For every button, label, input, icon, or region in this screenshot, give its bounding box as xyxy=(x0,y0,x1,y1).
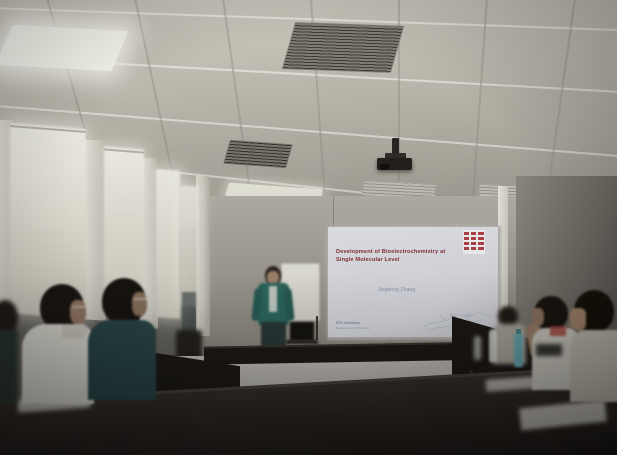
ceiling-light-panel-1 xyxy=(0,25,128,71)
water-bottle-teal xyxy=(514,333,523,367)
screen-hanger-left xyxy=(333,196,334,230)
water-bottle-teal-cap xyxy=(516,329,521,334)
attendee-white-shirt-face xyxy=(70,300,86,324)
dtu-logo xyxy=(463,230,485,254)
attendee-white-shirt-glasses xyxy=(72,306,86,308)
projection-screen: Development of Bioelectrochemistry at Si… xyxy=(328,227,498,337)
presenter-inner-shirt xyxy=(269,286,277,312)
attendee-left-edge-head xyxy=(0,300,18,334)
wall-pillar-4 xyxy=(196,176,210,337)
hvac-vent-1 xyxy=(282,22,404,73)
laptop-base xyxy=(286,340,318,344)
presenter xyxy=(253,266,293,350)
window-blind-far xyxy=(180,186,198,307)
attendee-white-shirt-collar xyxy=(62,324,88,338)
seminar-room-photo: Development of Bioelectrochemistry at Si… xyxy=(0,0,617,455)
whiteboard-leg xyxy=(316,316,318,340)
laptop-screen xyxy=(290,322,314,341)
slide-title-line-2: Single Molecular Level xyxy=(336,257,400,264)
attendee-back-row-head xyxy=(498,306,518,326)
attendee-front-right-torso xyxy=(570,330,617,402)
slide-title-line-1: Development of Bioelectrochemistry at xyxy=(336,249,445,256)
slide-author: Jingdong Zhang xyxy=(378,287,415,293)
attendee-white-tee-collar xyxy=(550,326,566,336)
attendee-teal-shirt xyxy=(88,278,160,400)
hvac-vent-2 xyxy=(223,140,293,168)
attendee-left-edge xyxy=(0,300,22,405)
attendee-left-edge-torso xyxy=(0,330,18,402)
attendee-teal-shirt-glasses xyxy=(134,298,148,300)
attendee-teal-shirt-torso xyxy=(88,320,156,400)
attendee-front-right-hand xyxy=(570,308,586,330)
device-right xyxy=(536,344,562,356)
slide-footer-org: DTU Chemistry xyxy=(336,321,361,325)
projector-lens xyxy=(380,164,389,170)
water-bottle-clear xyxy=(489,330,497,362)
attendee-teal-shirt-face xyxy=(132,292,147,316)
water-bottle-small xyxy=(474,336,481,360)
attendee-front-right xyxy=(570,290,617,402)
slide-footer-dept: Department of Chemistry xyxy=(336,326,369,330)
